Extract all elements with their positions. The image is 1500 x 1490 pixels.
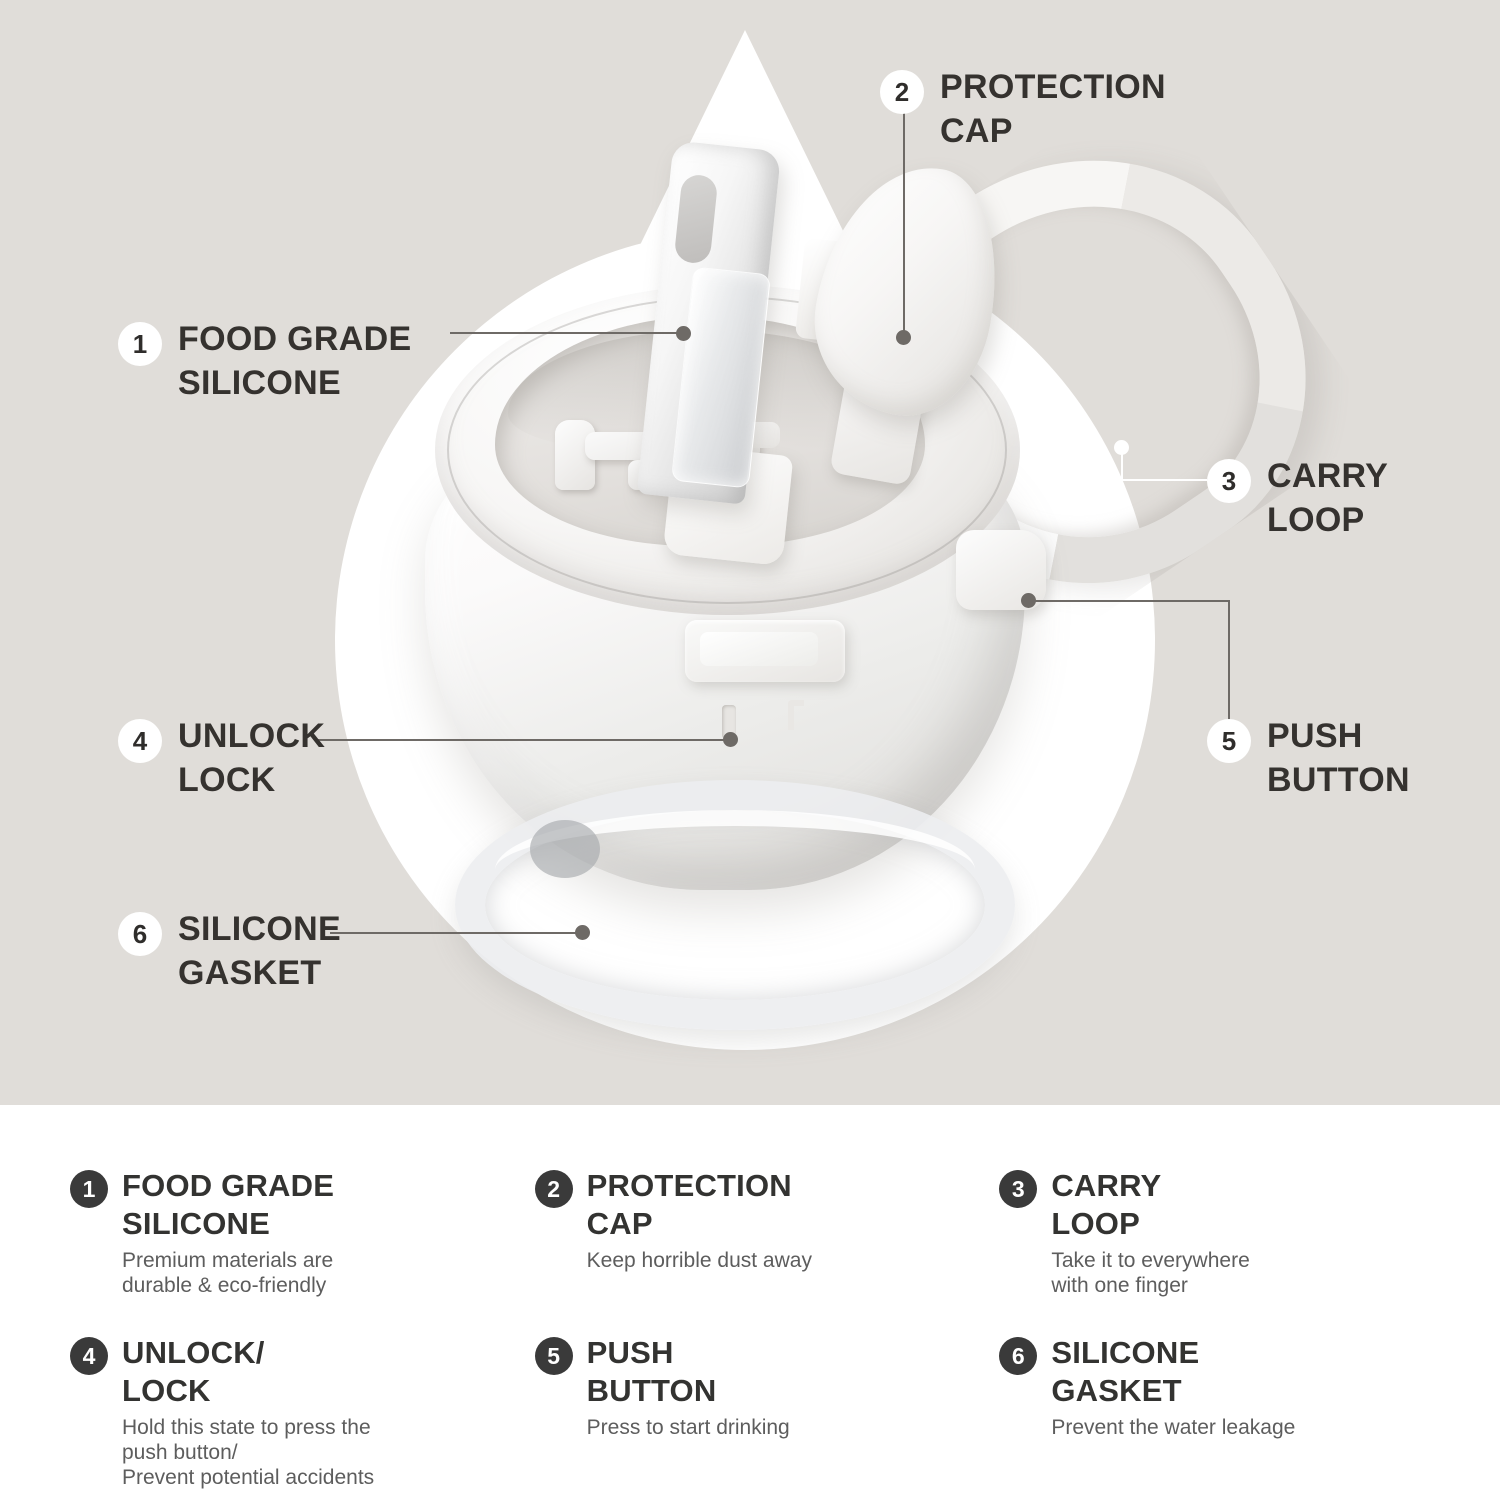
legend-title-6: SILICONE GASKET xyxy=(1051,1334,1295,1410)
leader-line-5-vertical xyxy=(1228,600,1230,730)
bottle-lid-product-image xyxy=(400,120,1300,1040)
legend-badge-5: 5 xyxy=(535,1337,573,1375)
legend-description-2: Keep horrible dust away xyxy=(587,1248,812,1273)
legend-body-4: UNLOCK/ LOCK Hold this state to press th… xyxy=(122,1334,374,1490)
legend-body-5: PUSH BUTTON Press to start drinking xyxy=(587,1334,790,1440)
hero-section: 1 FOOD GRADE SILICONE 2 PROTECTION CAP 3… xyxy=(0,0,1500,1105)
leader-line-3-horizontal xyxy=(1121,479,1207,481)
legend-item-6: 6 SILICONE GASKET Prevent the water leak… xyxy=(999,1334,1430,1490)
legend-item-3: 3 CARRY LOOP Take it to everywhere with … xyxy=(999,1167,1430,1298)
leader-dot-4 xyxy=(723,732,738,747)
legend-body-6: SILICONE GASKET Prevent the water leakag… xyxy=(1051,1334,1295,1440)
legend-item-2: 2 PROTECTION CAP Keep horrible dust away xyxy=(535,1167,966,1298)
callout-label-4: UNLOCK LOCK xyxy=(178,715,325,802)
callout-label-5: PUSH BUTTON xyxy=(1267,715,1410,802)
callout-2: 2 PROTECTION CAP xyxy=(880,66,1166,153)
legend-description-6: Prevent the water leakage xyxy=(1051,1415,1295,1440)
legend-item-5: 5 PUSH BUTTON Press to start drinking xyxy=(535,1334,966,1490)
legend-title-4: UNLOCK/ LOCK xyxy=(122,1334,374,1410)
legend-badge-6: 6 xyxy=(999,1337,1037,1375)
legend-badge-1: 1 xyxy=(70,1170,108,1208)
leader-dot-1 xyxy=(676,326,691,341)
legend-item-4: 4 UNLOCK/ LOCK Hold this state to press … xyxy=(70,1334,501,1490)
callout-6: 6 SILICONE GASKET xyxy=(118,908,341,995)
legend-title-3: CARRY LOOP xyxy=(1051,1167,1249,1243)
callout-badge-6: 6 xyxy=(118,912,162,956)
legend-body-1: FOOD GRADE SILICONE Premium materials ar… xyxy=(122,1167,334,1298)
legend-title-1: FOOD GRADE SILICONE xyxy=(122,1167,334,1243)
gasket-shadow xyxy=(530,820,600,878)
callout-badge-2: 2 xyxy=(880,70,924,114)
callout-label-1: FOOD GRADE SILICONE xyxy=(178,318,411,405)
leader-line-5-horizontal xyxy=(1028,600,1230,602)
legend-description-3: Take it to everywhere with one finger xyxy=(1051,1248,1249,1298)
lock-indicator-b xyxy=(788,700,804,730)
callout-1: 1 FOOD GRADE SILICONE xyxy=(118,318,411,405)
leader-dot-5 xyxy=(1021,593,1036,608)
legend-body-3: CARRY LOOP Take it to everywhere with on… xyxy=(1051,1167,1249,1298)
legend-description-5: Press to start drinking xyxy=(587,1415,790,1440)
legend-description-4: Hold this state to press the push button… xyxy=(122,1415,374,1490)
legend-description-1: Premium materials are durable & eco-frie… xyxy=(122,1248,334,1298)
legend-body-2: PROTECTION CAP Keep horrible dust away xyxy=(587,1167,812,1273)
leader-line-6 xyxy=(330,932,582,934)
callout-label-2: PROTECTION CAP xyxy=(940,66,1166,153)
leader-line-1 xyxy=(450,332,688,334)
legend-badge-2: 2 xyxy=(535,1170,573,1208)
legend-badge-3: 3 xyxy=(999,1170,1037,1208)
callout-4: 4 UNLOCK LOCK xyxy=(118,715,325,802)
leader-dot-6 xyxy=(575,925,590,940)
leader-dot-3 xyxy=(1114,440,1129,455)
leader-dot-2 xyxy=(896,330,911,345)
callout-3: 3 CARRY LOOP xyxy=(1207,455,1388,542)
feature-legend-section: 1 FOOD GRADE SILICONE Premium materials … xyxy=(0,1105,1500,1471)
legend-title-5: PUSH BUTTON xyxy=(587,1334,790,1410)
callout-5: 5 PUSH BUTTON xyxy=(1207,715,1410,802)
legend-item-1: 1 FOOD GRADE SILICONE Premium materials … xyxy=(70,1167,501,1298)
callout-badge-5: 5 xyxy=(1207,719,1251,763)
lock-slider-inner xyxy=(700,632,818,666)
callout-label-6: SILICONE GASKET xyxy=(178,908,341,995)
callout-label-3: CARRY LOOP xyxy=(1267,455,1388,542)
legend-badge-4: 4 xyxy=(70,1337,108,1375)
callout-badge-3: 3 xyxy=(1207,459,1251,503)
leader-line-4 xyxy=(318,739,730,741)
product-infographic: 1 FOOD GRADE SILICONE 2 PROTECTION CAP 3… xyxy=(0,0,1500,1471)
callout-badge-1: 1 xyxy=(118,322,162,366)
legend-title-2: PROTECTION CAP xyxy=(587,1167,812,1243)
callout-badge-4: 4 xyxy=(118,719,162,763)
